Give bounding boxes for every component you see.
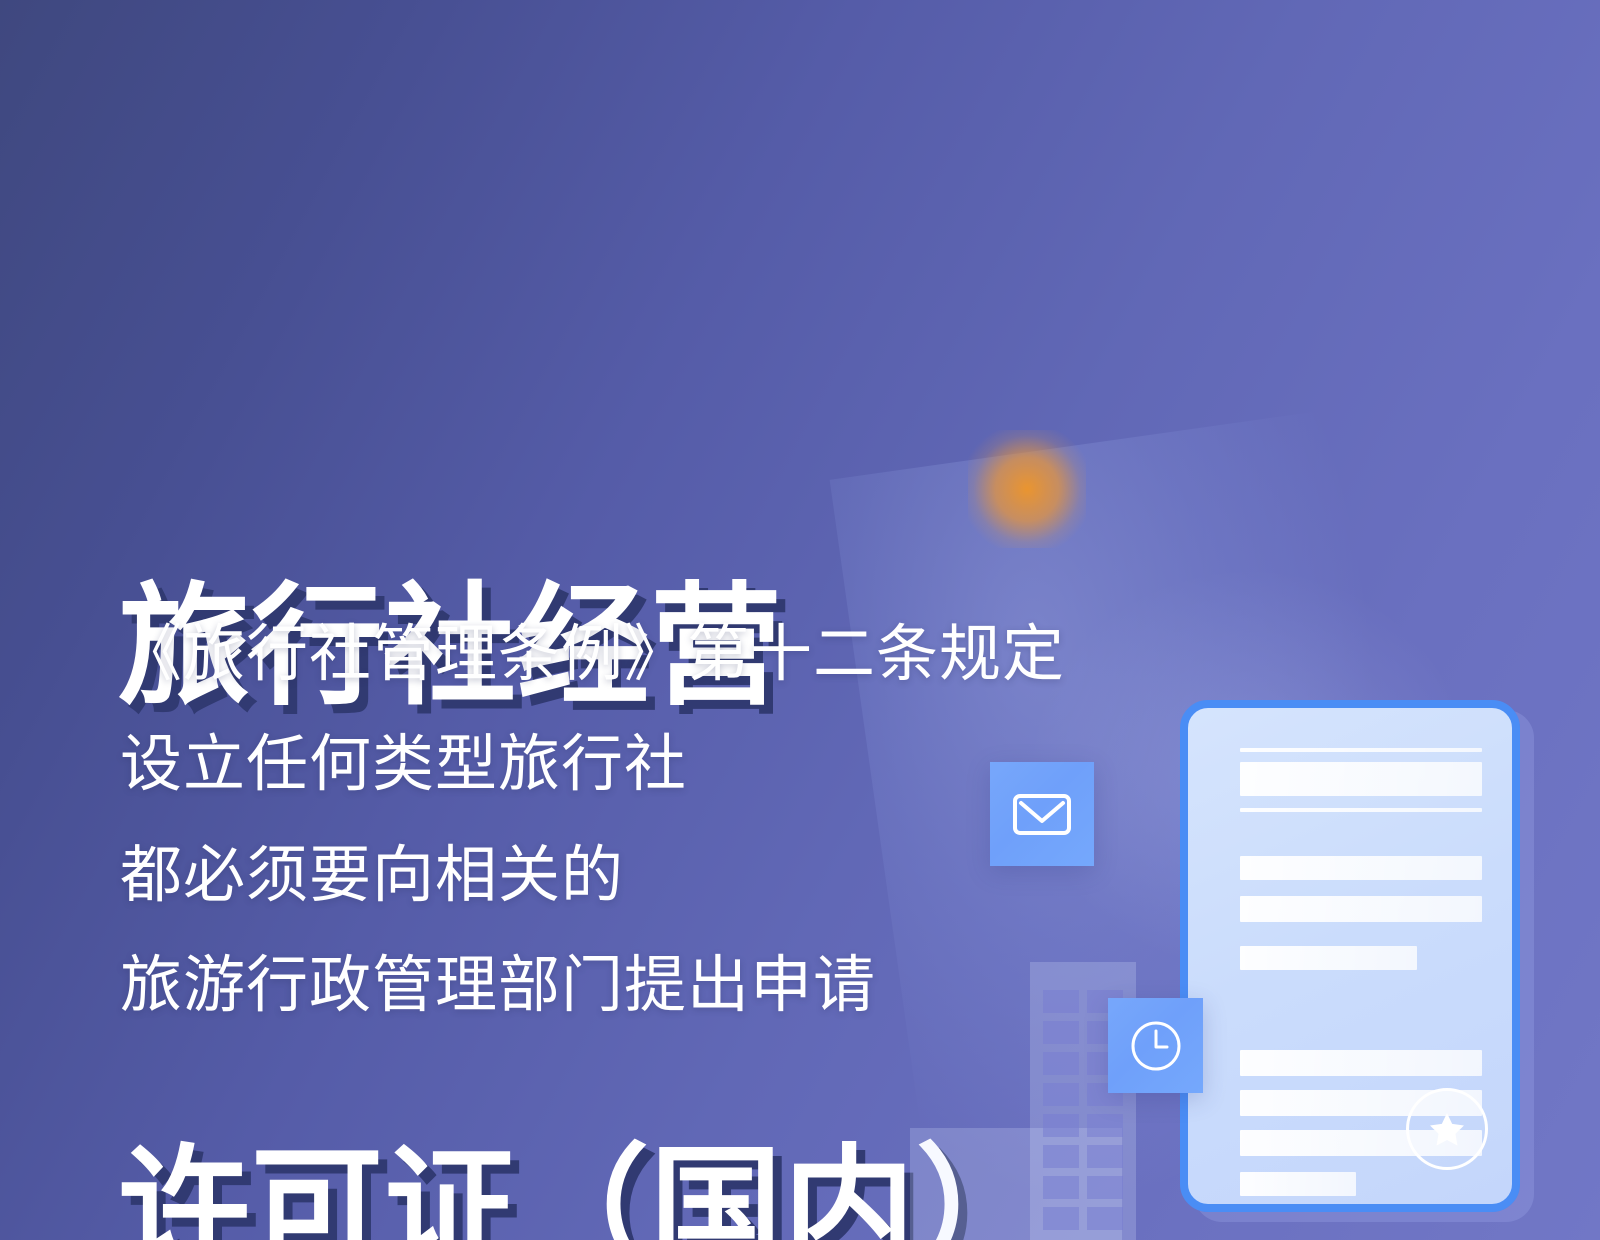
body-line-3: 都必须要向相关的 — [120, 821, 1065, 931]
envelope-tile — [990, 762, 1094, 866]
document-text-line — [1240, 748, 1482, 752]
document-text-line — [1240, 856, 1482, 880]
body-line-1: 《旅行社管理条例》第十二条规定 — [120, 600, 1065, 710]
body-line-4: 旅游行政管理部门提出申请 — [120, 931, 1065, 1041]
document-text-line — [1240, 946, 1417, 970]
poster-body-copy: 《旅行社管理条例》第十二条规定 设立任何类型旅行社 都必须要向相关的 旅游行政管… — [120, 600, 1065, 1041]
clock-icon — [1128, 1018, 1184, 1074]
star-badge-icon — [1406, 1088, 1488, 1170]
document-card — [1180, 700, 1520, 1212]
document-text-line — [1240, 762, 1482, 796]
building-window — [1043, 1021, 1079, 1044]
document-text-line — [1240, 1172, 1356, 1196]
building-window — [1087, 1176, 1123, 1199]
building-window — [1043, 1176, 1079, 1199]
building-window — [1087, 1207, 1123, 1230]
building-window — [1043, 990, 1079, 1013]
document-text-line — [1240, 808, 1482, 812]
document-text-line — [1240, 896, 1482, 922]
envelope-icon — [1012, 790, 1072, 838]
document-text-line — [1240, 1050, 1482, 1076]
building-window — [1043, 1083, 1079, 1106]
building-window — [1087, 1145, 1123, 1168]
building-window — [1043, 1207, 1079, 1230]
poster-canvas: 旅行社经营 许可证（国内） 《旅行社管理条例》第十二条规定 设立任何类型旅行社 … — [0, 0, 1600, 1240]
building-window — [1043, 1114, 1079, 1137]
building-window — [1043, 1145, 1079, 1168]
building-window — [1043, 1052, 1079, 1075]
building-window — [1087, 1114, 1123, 1137]
clock-tile — [1108, 998, 1203, 1093]
body-line-2: 设立任何类型旅行社 — [120, 710, 1065, 820]
